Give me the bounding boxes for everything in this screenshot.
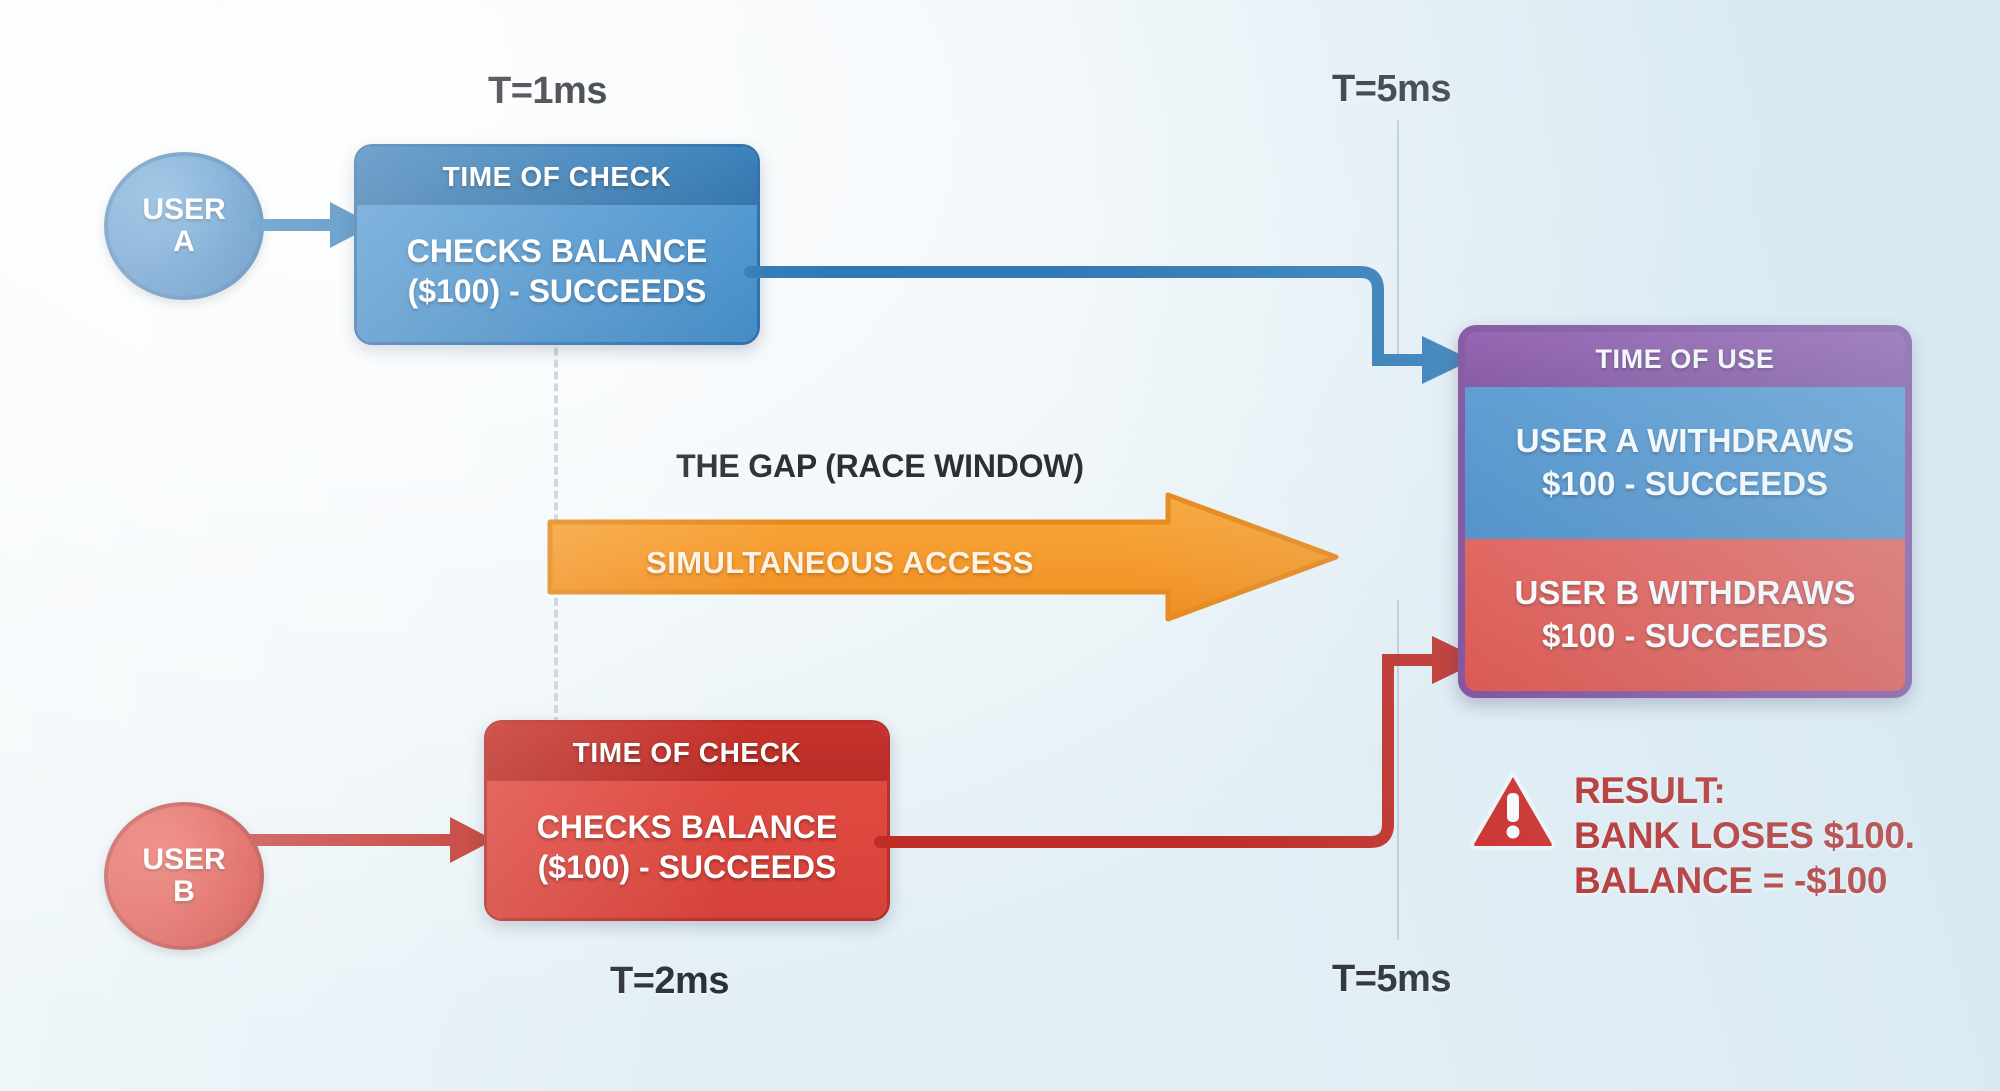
result-line-1: RESULT: [1574, 768, 1915, 813]
time-of-use-row-user-b-line2: $100 - SUCCEEDS [1542, 615, 1828, 658]
user-a-node[interactable]: USER A [104, 152, 264, 300]
user-b-check-body-line1: CHECKS BALANCE [503, 807, 871, 847]
time-of-use-header: TIME OF USE [1465, 332, 1905, 387]
user-a-check-body: CHECKS BALANCE ($100) - SUCCEEDS [357, 205, 757, 342]
user-b-to-check-arrow [250, 805, 500, 875]
user-b-check-body-line2: ($100) - SUCCEEDS [503, 847, 871, 887]
user-a-check-body-line2: ($100) - SUCCEEDS [373, 271, 741, 311]
user-b-check-card[interactable]: TIME OF CHECK CHECKS BALANCE ($100) - SU… [484, 720, 890, 921]
user-b-check-body: CHECKS BALANCE ($100) - SUCCEEDS [487, 781, 887, 918]
time-label-t1ms: T=1ms [488, 70, 607, 113]
user-a-label-line1: USER [142, 194, 225, 226]
user-a-check-card[interactable]: TIME OF CHECK CHECKS BALANCE ($100) - SU… [354, 144, 760, 345]
result-line-2: BANK LOSES $100. [1574, 813, 1915, 858]
time-of-use-row-user-b-line1: USER B WITHDRAWS [1515, 572, 1856, 615]
user-b-node[interactable]: USER B [104, 802, 264, 950]
time-of-use-row-user-a-line1: USER A WITHDRAWS [1516, 420, 1855, 463]
race-window-title: THE GAP (RACE WINDOW) [600, 448, 1160, 485]
user-b-label-line2: B [173, 876, 195, 908]
time-label-t2ms: T=2ms [610, 960, 729, 1003]
result-text: RESULT: BANK LOSES $100. BALANCE = -$100 [1574, 768, 1915, 903]
user-b-check-header: TIME OF CHECK [487, 723, 887, 781]
diagram-canvas: T=1ms T=5ms T=2ms T=5ms USER A TIME OF C… [0, 0, 2000, 1091]
user-a-check-header: TIME OF CHECK [357, 147, 757, 205]
race-window-arrow [548, 492, 1338, 622]
time-label-t5ms-bottom: T=5ms [1332, 958, 1451, 1001]
result-block: RESULT: BANK LOSES $100. BALANCE = -$100 [1470, 768, 1915, 903]
time-label-t5ms-top: T=5ms [1332, 68, 1451, 111]
user-a-label-line2: A [173, 226, 195, 258]
user-a-check-body-line1: CHECKS BALANCE [373, 231, 741, 271]
user-a-to-use-connector [750, 240, 1470, 440]
time-of-use-card[interactable]: TIME OF USE USER A WITHDRAWS $100 - SUCC… [1458, 325, 1912, 698]
user-b-label-line1: USER [142, 844, 225, 876]
warning-triangle-icon [1470, 768, 1556, 850]
user-b-to-use-connector [880, 610, 1480, 880]
time-of-use-row-user-a-line2: $100 - SUCCEEDS [1542, 463, 1828, 506]
result-line-3: BALANCE = -$100 [1574, 858, 1915, 903]
time-of-use-row-user-a[interactable]: USER A WITHDRAWS $100 - SUCCEEDS [1465, 387, 1905, 539]
time-of-use-row-user-b[interactable]: USER B WITHDRAWS $100 - SUCCEEDS [1465, 539, 1905, 691]
